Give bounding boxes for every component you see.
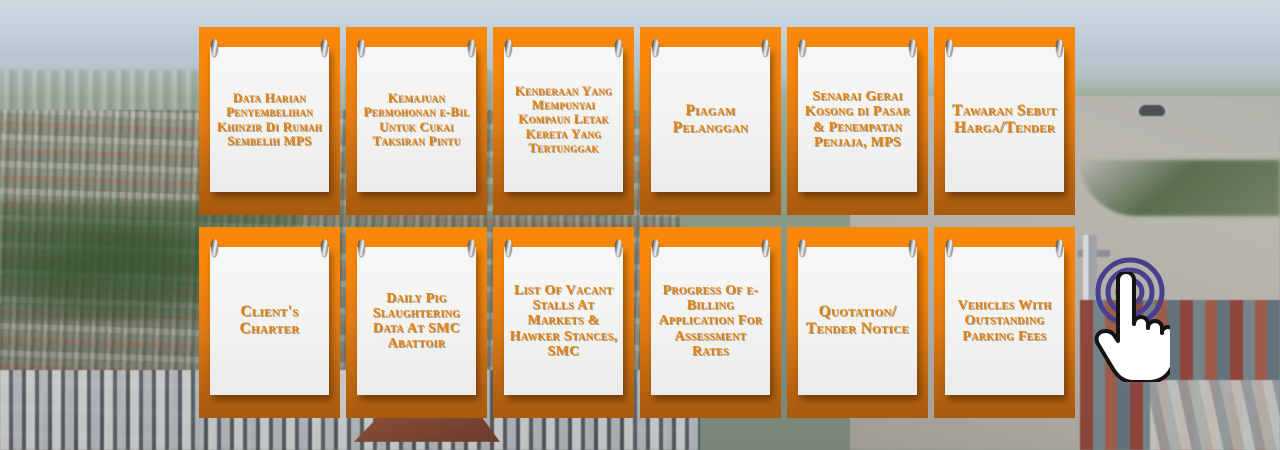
- card-title: Progress Of e-Billing Application For As…: [655, 283, 766, 359]
- card-title: Senarai Gerai Kosong di Pasar & Penempat…: [802, 89, 913, 149]
- background-boat: [1139, 105, 1165, 116]
- service-card-tawaran-sebut-harga-tender[interactable]: Tawaran Sebut Harga/Tender: [934, 27, 1075, 215]
- card-paper-panel: Quotation/ Tender Notice: [798, 247, 917, 395]
- pin-clip-left-icon: [799, 39, 806, 56]
- background-river-shore: [1080, 160, 1280, 216]
- service-card-progress-of-e-billing-application[interactable]: Progress Of e-Billing Application For As…: [640, 227, 781, 418]
- page-root: Data Harian Penyembelihan Khinzir Di Rum…: [0, 0, 1280, 450]
- card-paper-panel: Kenderaan Yang Mempunyai Kompaun Letak K…: [504, 47, 623, 192]
- pin-clip-left-icon: [358, 39, 365, 56]
- card-title: Tawaran Sebut Harga/Tender: [949, 103, 1060, 136]
- pin-clip-right-icon: [468, 39, 475, 56]
- card-title: Daily Pig Slaughtering Data At SMC Abatt…: [361, 291, 472, 351]
- service-card-vehicles-with-outstanding-parking-fees[interactable]: Vehicles With Outstanding Parking Fees: [934, 227, 1075, 418]
- pin-clip-right-icon: [321, 39, 328, 56]
- card-title: Quotation/ Tender Notice: [802, 304, 913, 337]
- pin-clip-right-icon: [909, 39, 916, 56]
- card-title: Kemajuan Permohonan e-Bil Untuk Cukai Ta…: [361, 91, 472, 147]
- card-paper-panel: Tawaran Sebut Harga/Tender: [945, 47, 1064, 192]
- service-card-grid: Data Harian Penyembelihan Khinzir Di Rum…: [199, 27, 1081, 418]
- pin-clip-right-icon: [468, 239, 475, 256]
- pin-clip-right-icon: [321, 239, 328, 256]
- card-title: Client's Charter: [214, 304, 325, 337]
- service-card-clients-charter[interactable]: Client's Charter: [199, 227, 340, 418]
- pin-clip-right-icon: [615, 39, 622, 56]
- pin-clip-left-icon: [946, 239, 953, 256]
- pin-clip-right-icon: [762, 239, 769, 256]
- service-card-senarai-gerai-kosong[interactable]: Senarai Gerai Kosong di Pasar & Penempat…: [787, 27, 928, 215]
- pin-clip-right-icon: [1056, 39, 1063, 56]
- pin-clip-right-icon: [1056, 239, 1063, 256]
- card-paper-panel: Daily Pig Slaughtering Data At SMC Abatt…: [357, 247, 476, 395]
- pin-clip-right-icon: [909, 239, 916, 256]
- service-card-quotation-tender-notice[interactable]: Quotation/ Tender Notice: [787, 227, 928, 418]
- service-card-data-harian-penyembelihan-khinzir[interactable]: Data Harian Penyembelihan Khinzir Di Rum…: [199, 27, 340, 215]
- pin-clip-right-icon: [615, 239, 622, 256]
- pin-clip-left-icon: [799, 239, 806, 256]
- card-paper-panel: Data Harian Penyembelihan Khinzir Di Rum…: [210, 47, 329, 192]
- card-paper-panel: Piagam Pelanggan: [651, 47, 770, 192]
- pin-clip-left-icon: [652, 239, 659, 256]
- pin-clip-right-icon: [762, 39, 769, 56]
- card-paper-panel: Kemajuan Permohonan e-Bil Untuk Cukai Ta…: [357, 47, 476, 192]
- background-warehouse-roofs: [1150, 380, 1280, 450]
- service-card-daily-pig-slaughtering-data[interactable]: Daily Pig Slaughtering Data At SMC Abatt…: [346, 227, 487, 418]
- service-card-kenderaan-kompaun-letak-kereta[interactable]: Kenderaan Yang Mempunyai Kompaun Letak K…: [493, 27, 634, 215]
- card-title: Piagam Pelanggan: [655, 103, 766, 136]
- card-paper-panel: Vehicles With Outstanding Parking Fees: [945, 247, 1064, 395]
- card-title: Data Harian Penyembelihan Khinzir Di Rum…: [214, 91, 325, 147]
- card-title: Kenderaan Yang Mempunyai Kompaun Letak K…: [508, 84, 619, 154]
- service-card-kemajuan-permohonan-e-bil[interactable]: Kemajuan Permohonan e-Bil Untuk Cukai Ta…: [346, 27, 487, 215]
- card-paper-panel: Client's Charter: [210, 247, 329, 395]
- pin-clip-left-icon: [946, 39, 953, 56]
- card-title: Vehicles With Outstanding Parking Fees: [949, 298, 1060, 343]
- service-card-list-of-vacant-stalls[interactable]: List Of Vacant Stalls At Markets & Hawke…: [493, 227, 634, 418]
- pin-clip-left-icon: [211, 39, 218, 56]
- card-title: List Of Vacant Stalls At Markets & Hawke…: [508, 283, 619, 359]
- card-paper-panel: List Of Vacant Stalls At Markets & Hawke…: [504, 247, 623, 395]
- pin-clip-left-icon: [211, 239, 218, 256]
- service-card-piagam-pelanggan[interactable]: Piagam Pelanggan: [640, 27, 781, 215]
- pin-clip-left-icon: [358, 239, 365, 256]
- pin-clip-left-icon: [652, 39, 659, 56]
- card-paper-panel: Senarai Gerai Kosong di Pasar & Penempat…: [798, 47, 917, 192]
- pin-clip-left-icon: [505, 239, 512, 256]
- pin-clip-left-icon: [505, 39, 512, 56]
- card-paper-panel: Progress Of e-Billing Application For As…: [651, 247, 770, 395]
